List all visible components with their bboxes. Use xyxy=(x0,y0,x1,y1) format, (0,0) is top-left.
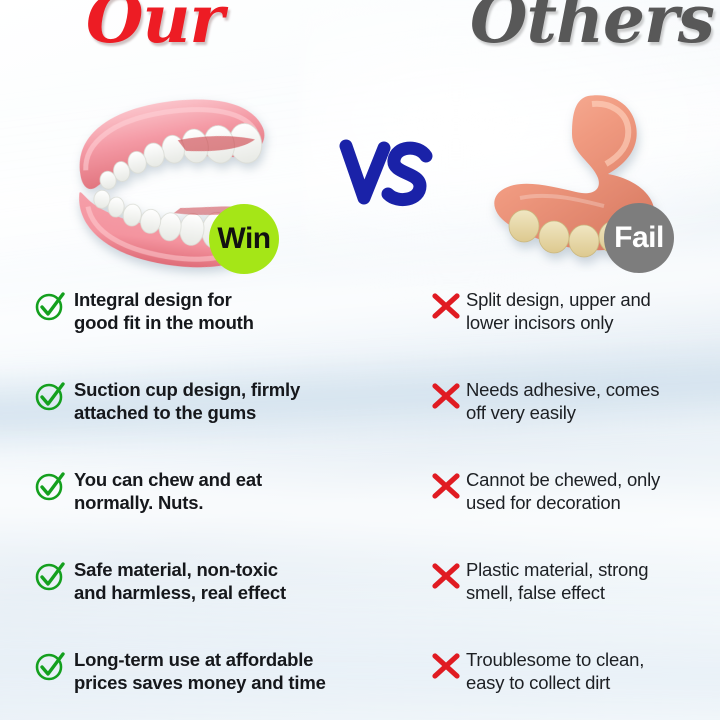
circle-check-icon xyxy=(34,650,66,682)
circle-check-icon xyxy=(34,290,66,322)
row-ours: Suction cup design, firmlyattached to th… xyxy=(34,378,374,424)
versus-label xyxy=(338,136,434,212)
row-ours-text: Safe material, non-toxicand harmless, re… xyxy=(74,558,286,604)
row-ours-text: Integral design forgood fit in the mouth xyxy=(74,288,254,334)
comparison-row: Long-term use at affordableprices saves … xyxy=(0,648,720,720)
row-others: Split design, upper andlower incisors on… xyxy=(430,288,710,334)
comparison-infographic: Our Others xyxy=(0,0,720,720)
row-others-text: Cannot be chewed, onlyused for decoratio… xyxy=(466,468,660,514)
comparison-row: You can chew and eatnormally. Nuts. Cann… xyxy=(0,468,720,558)
row-others-text: Plastic material, strongsmell, false eff… xyxy=(466,558,648,604)
row-ours-text: Suction cup design, firmlyattached to th… xyxy=(74,378,300,424)
circle-check-icon xyxy=(34,380,66,412)
row-ours-text: You can chew and eatnormally. Nuts. xyxy=(74,468,262,514)
comparison-row: Safe material, non-toxicand harmless, re… xyxy=(0,558,720,648)
badge-win: Win xyxy=(209,204,279,274)
row-others: Plastic material, strongsmell, false eff… xyxy=(430,558,710,604)
red-x-icon xyxy=(430,380,462,412)
red-x-icon xyxy=(430,470,462,502)
row-others-text: Troublesome to clean,easy to collect dir… xyxy=(466,648,644,694)
comparison-rows: Integral design forgood fit in the mouth… xyxy=(0,288,720,720)
red-x-icon xyxy=(430,290,462,322)
row-ours: Long-term use at affordableprices saves … xyxy=(34,648,374,694)
row-others: Needs adhesive, comesoff very easily xyxy=(430,378,710,424)
red-x-icon xyxy=(430,650,462,682)
badge-fail: Fail xyxy=(604,203,674,273)
row-ours: Integral design forgood fit in the mouth xyxy=(34,288,374,334)
red-x-icon xyxy=(430,560,462,592)
comparison-row: Integral design forgood fit in the mouth… xyxy=(0,288,720,378)
row-others-text: Split design, upper andlower incisors on… xyxy=(466,288,651,334)
row-others-text: Needs adhesive, comesoff very easily xyxy=(466,378,659,424)
row-others: Cannot be chewed, onlyused for decoratio… xyxy=(430,468,710,514)
circle-check-icon xyxy=(34,470,66,502)
row-ours: Safe material, non-toxicand harmless, re… xyxy=(34,558,374,604)
row-ours-text: Long-term use at affordableprices saves … xyxy=(74,648,326,694)
row-ours: You can chew and eatnormally. Nuts. xyxy=(34,468,374,514)
header-ours: Our xyxy=(86,0,223,52)
row-others: Troublesome to clean,easy to collect dir… xyxy=(430,648,710,694)
header-others: Others xyxy=(470,0,714,52)
circle-check-icon xyxy=(34,560,66,592)
comparison-row: Suction cup design, firmlyattached to th… xyxy=(0,378,720,468)
